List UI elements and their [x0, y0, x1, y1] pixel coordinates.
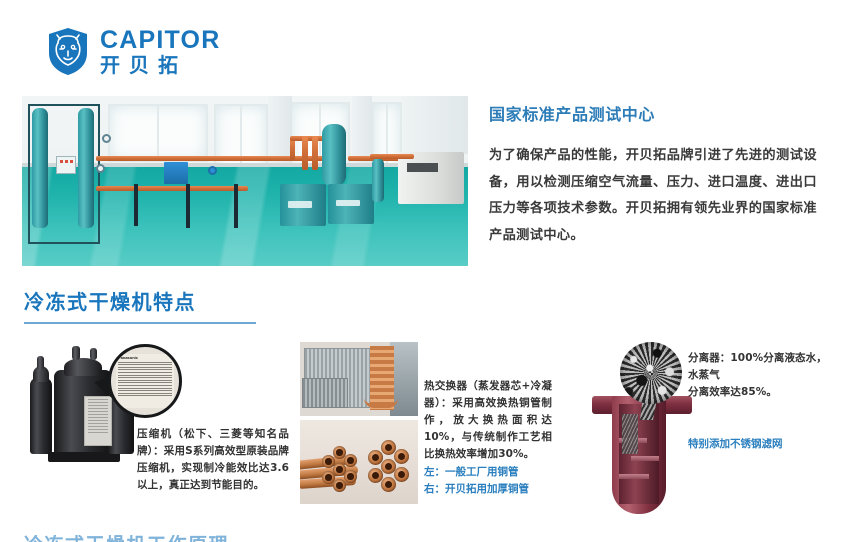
photo-gauge	[102, 134, 111, 143]
legend-left-text: 左：一般工厂用铜管	[424, 464, 564, 481]
photo-white-machine	[398, 152, 464, 204]
photo-equipment-box	[164, 162, 188, 184]
copper-bundle-right	[368, 440, 412, 486]
nameplate-brand: Panasonic	[118, 355, 172, 360]
photo-window	[108, 104, 208, 162]
stainless-mesh-zoom-icon	[620, 342, 682, 404]
compressor-head	[64, 358, 102, 376]
next-section-heading-text: 冷冻式干燥机工作原理	[24, 535, 294, 542]
section-heading: 冷冻式干燥机特点	[24, 289, 256, 324]
photo-control-panel	[56, 156, 76, 174]
separator-caption-line2: 水蒸气	[688, 367, 848, 384]
photo-chiller	[328, 184, 374, 224]
photo-pipe	[96, 156, 346, 161]
brand-logo[interactable]: CAPITOR 开贝拓	[47, 27, 220, 76]
section-heading-rule	[24, 322, 256, 324]
photo-stand	[186, 184, 190, 228]
nameplate-zoom-callout: Panasonic	[108, 344, 182, 418]
photo-pipe	[302, 136, 308, 170]
photo-pillar	[402, 96, 468, 154]
compressor-stub	[72, 346, 80, 360]
test-center-photo	[22, 96, 468, 266]
separator-highlight-text: 特别添加不锈钢滤网	[688, 436, 848, 453]
heat-exchanger-coil-photo	[300, 342, 418, 416]
separator-highlight: 特别添加不锈钢滤网	[688, 436, 848, 453]
separator-mesh-insert	[622, 414, 638, 454]
photo-tank	[322, 124, 346, 186]
separator-caption-line1: 分离器：100%分离液态水，	[688, 350, 848, 367]
heat-exchanger-caption: 热交换器（蒸发器芯+冷凝器）：采用高效换热铜管制作，放大换热面积达10%，与传统…	[424, 378, 552, 463]
photo-stand	[234, 184, 238, 228]
photo-gauge	[208, 166, 217, 175]
compressor-stub	[90, 348, 97, 360]
separator-caption-line3: 分离效率达85%。	[688, 384, 848, 401]
test-center-title: 国家标准产品测试中心	[489, 104, 817, 126]
compressor-caption-text: 压缩机（松下、三菱等知名品牌）：采用S系列高效型原装品牌压缩机，实现制冷能效比达…	[137, 426, 289, 494]
separator-diagram	[592, 338, 692, 528]
page-root: CAPITOR 开贝拓	[0, 0, 850, 542]
separator-baffle	[631, 456, 659, 461]
heat-exchanger-caption-text: 热交换器（蒸发器芯+冷凝器）：采用高效换热铜管制作，放大换热面积达10%，与传统…	[424, 378, 552, 463]
separator-baffle	[619, 474, 649, 479]
photo-pipe	[370, 154, 414, 159]
brand-name-en: CAPITOR	[100, 28, 220, 53]
test-center-text: 国家标准产品测试中心 为了确保产品的性能，开贝拓品牌引进了先进的测试设备，用以检…	[489, 104, 817, 249]
photo-frame	[28, 104, 100, 244]
photo-pipe	[290, 138, 295, 160]
photo-pipe	[312, 136, 318, 170]
next-section-heading-partial: 冷冻式干燥机工作原理	[24, 535, 294, 542]
photo-stand	[134, 184, 138, 226]
coil-fins-secondary	[302, 378, 348, 408]
compressor-accumulator	[30, 378, 52, 454]
shield-lion-icon	[47, 27, 89, 76]
features-row: Panasonic 压缩机（松下、三菱等知名品牌）：采用S系列高效型原装品牌压缩…	[0, 338, 850, 538]
copper-bundle-left	[322, 446, 362, 490]
brand-wordmark: CAPITOR 开贝拓	[100, 28, 220, 75]
photo-gauge	[96, 164, 105, 173]
nameplate-zoom-content: Panasonic	[116, 354, 174, 408]
section-heading-text: 冷冻式干燥机特点	[24, 289, 256, 315]
photo-tank	[372, 158, 384, 202]
heat-exchanger-legend: 左：一般工厂用铜管 右：开贝拓用加厚铜管	[424, 464, 564, 498]
legend-right-text: 右：开贝拓用加厚铜管	[424, 481, 564, 498]
test-center-body: 为了确保产品的性能，开贝拓品牌引进了先进的测试设备，用以检测压缩空气流量、压力、…	[489, 143, 817, 249]
compressor-caption: 压缩机（松下、三菱等知名品牌）：采用S系列高效型原装品牌压缩机，实现制冷能效比达…	[137, 426, 289, 494]
separator-caption: 分离器：100%分离液态水， 水蒸气 分离效率达85%。	[688, 350, 848, 401]
brand-name-cn: 开贝拓	[100, 55, 220, 75]
photo-chiller	[280, 184, 326, 226]
compressor-stub	[37, 356, 44, 370]
photo-pipe	[96, 186, 248, 191]
coil-u-bend	[364, 398, 398, 408]
copper-tube-bundle-photo	[300, 420, 418, 504]
